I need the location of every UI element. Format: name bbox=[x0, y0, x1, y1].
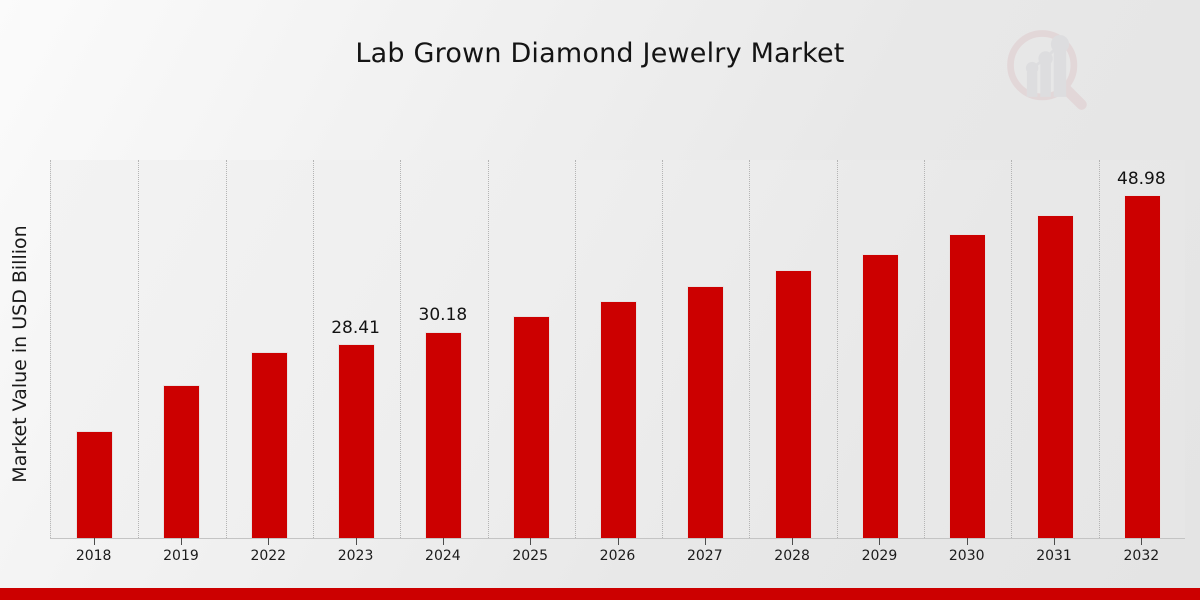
gridline bbox=[1099, 160, 1100, 538]
bar bbox=[1124, 195, 1161, 538]
bar bbox=[949, 234, 986, 538]
bar-value-label: 48.98 bbox=[1096, 169, 1186, 189]
x-axis-tick bbox=[879, 538, 880, 545]
x-axis-tick-label: 2030 bbox=[922, 548, 1012, 564]
x-axis-tick bbox=[792, 538, 793, 545]
x-axis-tick-label: 2019 bbox=[136, 548, 226, 564]
gridline bbox=[924, 160, 925, 538]
bar bbox=[338, 344, 375, 538]
plot-area bbox=[50, 160, 1185, 538]
bar bbox=[687, 286, 724, 538]
gridline bbox=[138, 160, 139, 538]
x-axis-tick-label: 2026 bbox=[573, 548, 663, 564]
x-axis-tick-label: 2029 bbox=[834, 548, 924, 564]
gridline bbox=[313, 160, 314, 538]
market-research-magnifier-bar-chart-logo bbox=[999, 22, 1095, 118]
bar bbox=[600, 301, 637, 538]
bar-value-label: 28.41 bbox=[311, 318, 401, 338]
x-axis-tick bbox=[181, 538, 182, 545]
chart-page: Lab Grown Diamond Jewelry Market Market … bbox=[0, 0, 1200, 600]
gridline bbox=[575, 160, 576, 538]
x-axis-tick bbox=[1054, 538, 1055, 545]
x-axis-tick bbox=[94, 538, 95, 545]
x-axis-tick bbox=[356, 538, 357, 545]
bar bbox=[163, 385, 200, 538]
bar-value-label: 30.18 bbox=[398, 305, 488, 325]
bar bbox=[775, 270, 812, 538]
gridline bbox=[749, 160, 750, 538]
x-axis-tick bbox=[967, 538, 968, 545]
x-axis-tick-label: 2023 bbox=[311, 548, 401, 564]
gridline bbox=[1011, 160, 1012, 538]
x-axis-tick-label: 2025 bbox=[485, 548, 575, 564]
x-axis-tick bbox=[268, 538, 269, 545]
x-axis-tick-label: 2027 bbox=[660, 548, 750, 564]
x-axis-tick bbox=[618, 538, 619, 545]
x-axis-tick-label: 2022 bbox=[223, 548, 313, 564]
gridline bbox=[488, 160, 489, 538]
bottom-accent-strip bbox=[0, 588, 1200, 600]
bar bbox=[425, 332, 462, 539]
bar bbox=[76, 431, 113, 538]
gridline bbox=[837, 160, 838, 538]
bar bbox=[1037, 215, 1074, 538]
x-axis-tick bbox=[705, 538, 706, 545]
gridline bbox=[226, 160, 227, 538]
x-axis-tick bbox=[1141, 538, 1142, 545]
bar bbox=[251, 352, 288, 538]
x-axis-tick-label: 2031 bbox=[1009, 548, 1099, 564]
x-axis-tick-label: 2018 bbox=[49, 548, 139, 564]
x-axis-tick bbox=[530, 538, 531, 545]
y-axis-label: Market Value in USD Billion bbox=[9, 144, 31, 564]
bar bbox=[513, 316, 550, 538]
bar bbox=[862, 254, 899, 538]
gridline bbox=[662, 160, 663, 538]
x-axis-tick-label: 2032 bbox=[1096, 548, 1186, 564]
gridline bbox=[400, 160, 401, 538]
x-axis-tick-label: 2024 bbox=[398, 548, 488, 564]
x-axis-tick-label: 2028 bbox=[747, 548, 837, 564]
x-axis-tick bbox=[443, 538, 444, 545]
